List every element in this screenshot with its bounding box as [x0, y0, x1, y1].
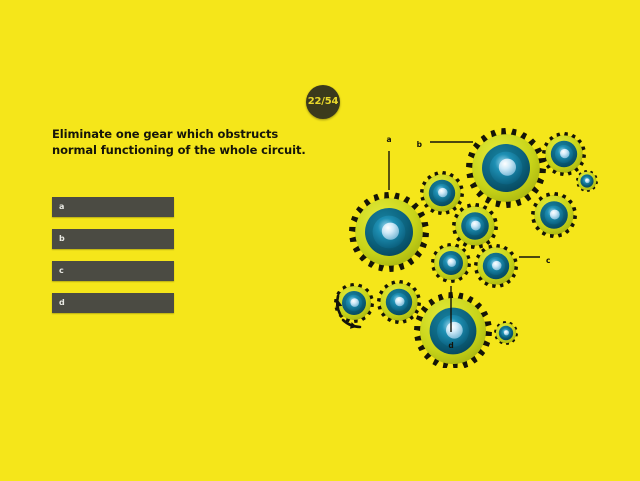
gear-right-med[interactable] [531, 192, 577, 238]
answer-option-b-label: b [59, 235, 65, 243]
quiz-screen: 22/54 Eliminate one gear which obstructs… [0, 0, 640, 481]
gear-center-highlight [560, 149, 569, 158]
progress-counter: 22/54 [308, 97, 339, 107]
gear-center-highlight [395, 297, 404, 306]
question-line-2: normal functioning of the whole circuit. [52, 142, 322, 158]
gear-large-left[interactable] [349, 192, 429, 272]
gear-mid-center[interactable] [452, 203, 498, 249]
gear-bottom-left2-small[interactable] [377, 280, 421, 324]
gear-top-right-med[interactable] [542, 132, 586, 176]
question-line-1: Eliminate one gear which obstructs [52, 126, 322, 142]
gear-top-right-tiny[interactable] [576, 170, 598, 192]
answer-option-a[interactable]: a [52, 197, 174, 217]
gear-center-highlight [504, 330, 509, 335]
gear-center-highlight [492, 261, 501, 270]
gears-layer [334, 128, 598, 368]
answer-option-a-label: a [59, 203, 64, 211]
gear-center-highlight [350, 298, 359, 307]
gear-mid-lower-left[interactable] [431, 243, 471, 283]
gear-center-highlight [447, 258, 456, 267]
gear-diagram: abcd [310, 118, 610, 368]
gear-bottom-right-tiny[interactable] [494, 321, 518, 345]
gear-small-upper-mid[interactable] [420, 171, 464, 215]
gear-large-bottom[interactable] [414, 292, 492, 368]
answer-option-d-label: d [59, 299, 65, 307]
gear-large-top[interactable] [466, 128, 546, 208]
gear-center-highlight [446, 322, 463, 339]
callout-label-d: d [448, 341, 453, 350]
gear-mid-right-small[interactable] [474, 244, 518, 288]
gear-center-highlight [585, 178, 590, 183]
gear-center-highlight [471, 221, 481, 231]
callout-label-b: b [417, 140, 423, 149]
gear-center-highlight [438, 188, 447, 197]
gear-center-highlight [550, 210, 560, 220]
callout-label-a: a [386, 135, 391, 144]
answer-options-list: a b c d [52, 197, 174, 325]
question-text: Eliminate one gear which obstructs norma… [52, 126, 322, 159]
callout-label-c: c [546, 256, 550, 265]
gear-center-highlight [499, 159, 516, 176]
progress-badge: 22/54 [306, 85, 340, 119]
answer-option-b[interactable]: b [52, 229, 174, 249]
answer-option-c-label: c [59, 267, 64, 275]
gear-center-highlight [382, 223, 399, 240]
answer-option-c[interactable]: c [52, 261, 174, 281]
answer-option-d[interactable]: d [52, 293, 174, 313]
